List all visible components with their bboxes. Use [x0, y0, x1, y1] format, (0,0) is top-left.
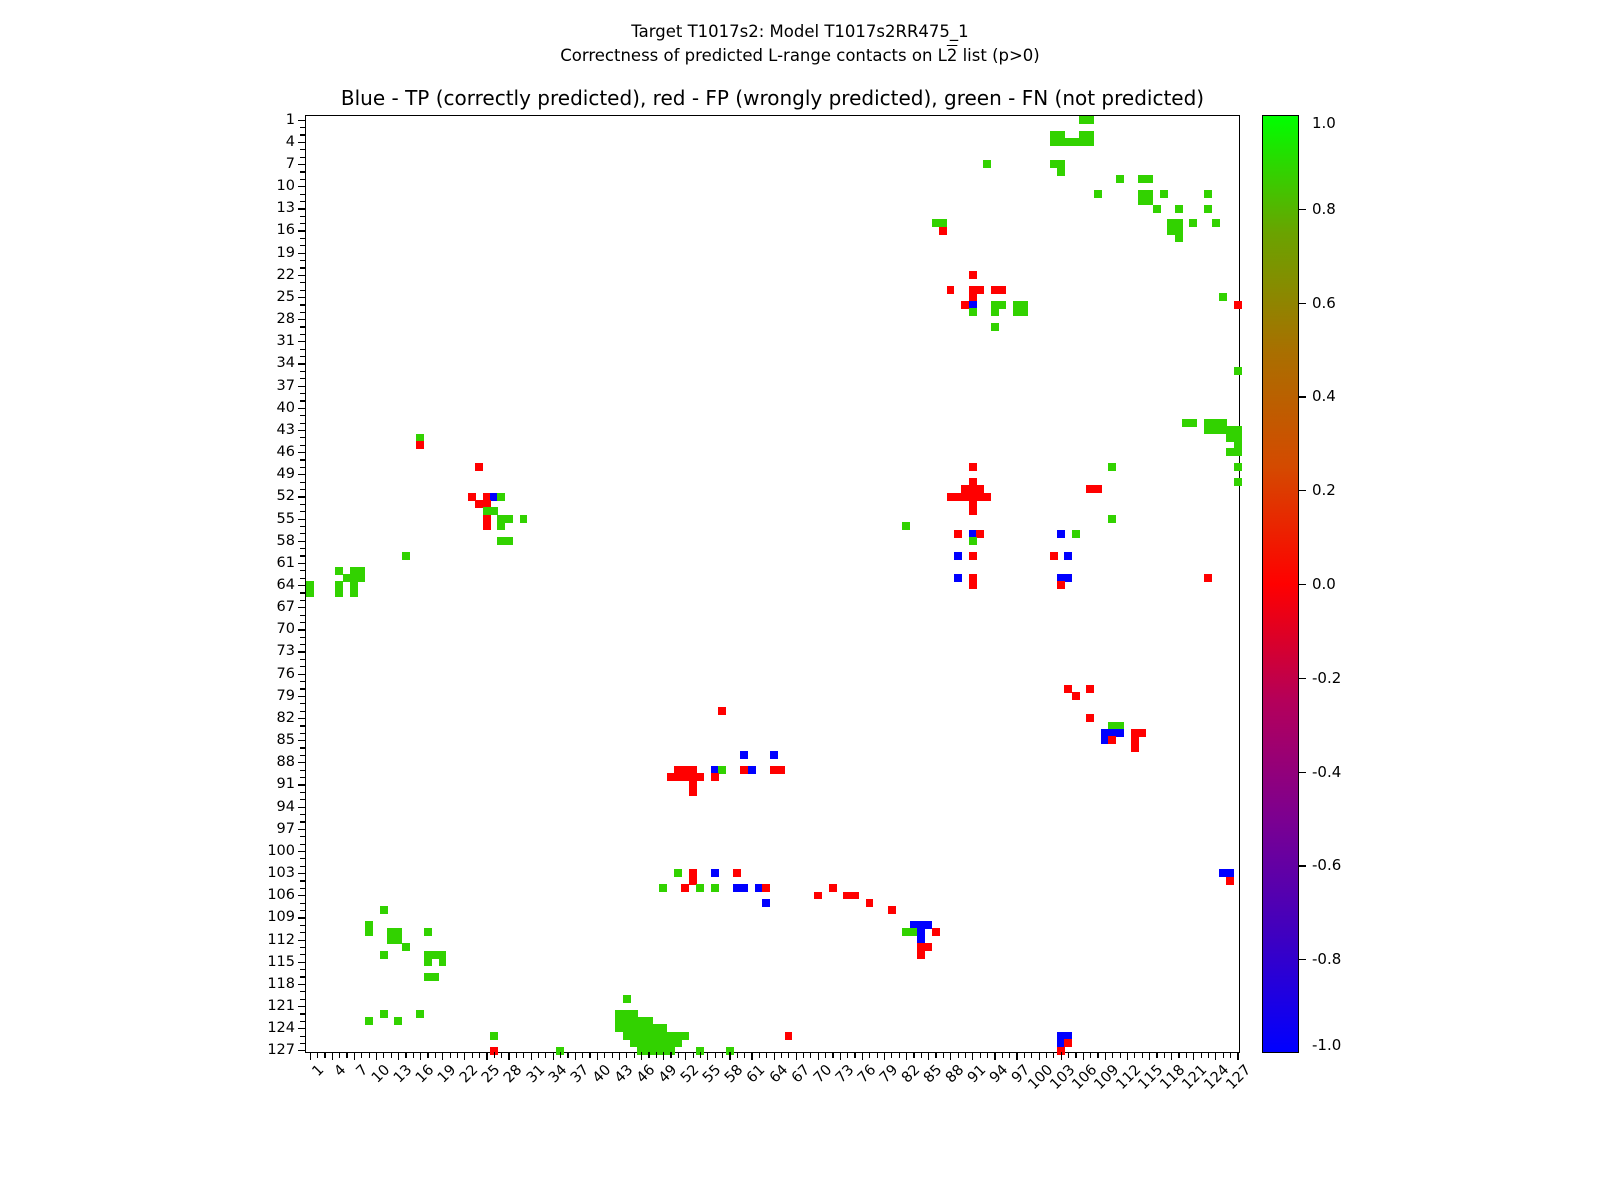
y-tick-mark [300, 223, 306, 224]
x-tick-mark [1215, 1052, 1216, 1060]
heatmap-cell-fp [1131, 744, 1139, 752]
y-tick-mark [300, 711, 306, 712]
y-tick-label: 121 [267, 998, 295, 1014]
heatmap-cell-fn [350, 589, 358, 597]
heatmap-cell-fp [983, 493, 991, 501]
y-tick-mark [300, 260, 306, 261]
x-tick-mark [1127, 1052, 1128, 1060]
colorbar-tick-label: -0.4 [1312, 763, 1341, 781]
x-tick-mark [935, 1052, 936, 1058]
y-tick-mark [300, 216, 306, 217]
y-tick-label: 22 [277, 267, 295, 283]
y-tick-mark [300, 659, 306, 660]
heatmap-cell-fp [667, 773, 675, 781]
heatmap-cell-fn [1175, 205, 1183, 213]
x-tick-mark [1083, 1052, 1084, 1060]
x-tick-mark [538, 1052, 539, 1058]
y-tick-label: 7 [286, 156, 295, 172]
y-tick-label: 49 [277, 466, 295, 482]
heatmap-cell-fn [424, 928, 432, 936]
x-tick-mark [442, 1052, 443, 1060]
y-tick-mark [298, 452, 306, 453]
x-tick-label: 7 [353, 1062, 371, 1080]
y-tick-mark [300, 511, 306, 512]
x-tick-mark [501, 1052, 502, 1058]
colorbar-tick-label: -1.0 [1312, 1036, 1341, 1054]
x-tick-mark [317, 1052, 318, 1058]
heatmap-cell-fn [1234, 478, 1242, 486]
heatmap-cell-fp [969, 552, 977, 560]
x-tick-mark [494, 1052, 495, 1058]
x-tick-mark [854, 1052, 855, 1058]
heatmap-cell-fn [358, 574, 366, 582]
heatmap-cell-fn [991, 323, 999, 331]
heatmap-cell-fn [497, 493, 505, 501]
y-tick-mark [298, 895, 306, 896]
x-tick-mark [479, 1052, 480, 1058]
x-tick-mark [361, 1052, 362, 1058]
heatmap-cell-fn [1086, 138, 1094, 146]
y-tick-mark [298, 496, 306, 497]
heatmap-cell-fn [505, 515, 513, 523]
x-tick-mark [729, 1052, 730, 1060]
x-tick-mark [803, 1052, 804, 1058]
x-tick-mark [766, 1052, 767, 1058]
y-tick-label: 31 [277, 333, 295, 349]
y-tick-mark [300, 445, 306, 446]
y-tick-mark [298, 563, 306, 564]
heatmap-cell-tp [1064, 574, 1072, 582]
x-tick-mark [332, 1052, 333, 1060]
y-tick-label: 100 [267, 843, 295, 859]
y-tick-label: 127 [267, 1042, 295, 1058]
heatmap-cell-fp [1204, 574, 1212, 582]
heatmap-cell-fn [1234, 367, 1242, 375]
y-tick-mark [300, 880, 306, 881]
y-tick-label: 94 [277, 799, 295, 815]
colorbar-tick-label: 0.6 [1312, 294, 1336, 312]
y-tick-label: 16 [277, 222, 295, 238]
x-tick-mark [1178, 1052, 1179, 1058]
y-tick-label: 61 [277, 555, 295, 571]
y-tick-label: 118 [267, 976, 295, 992]
heatmap-cell-fp [1108, 736, 1116, 744]
heatmap-cell-fp [416, 441, 424, 449]
heatmap-cell-fn [623, 995, 631, 1003]
x-tick-mark [508, 1052, 509, 1060]
x-tick-label: 70 [811, 1062, 835, 1086]
heatmap-cell-fp [969, 507, 977, 515]
colorbar-tick-mark [1299, 303, 1306, 304]
y-tick-mark [300, 644, 306, 645]
y-tick-mark [300, 910, 306, 911]
x-tick-mark [1208, 1052, 1209, 1058]
y-tick-label: 85 [277, 732, 295, 748]
y-tick-label: 76 [277, 666, 295, 682]
y-tick-mark [298, 186, 306, 187]
y-tick-mark [300, 157, 306, 158]
y-tick-label: 55 [277, 511, 295, 527]
y-tick-mark [300, 437, 306, 438]
x-tick-mark [383, 1052, 384, 1058]
x-tick-label: 61 [744, 1062, 768, 1086]
heatmap-cell-fp [939, 227, 947, 235]
heatmap-cell-fn [1057, 168, 1065, 176]
y-tick-mark [300, 888, 306, 889]
x-tick-mark [818, 1052, 819, 1060]
heatmap-cell-fn [1086, 116, 1094, 124]
heatmap-cell-fp [851, 892, 859, 900]
y-tick-mark [300, 570, 306, 571]
y-tick-mark [300, 666, 306, 667]
y-tick-mark [298, 319, 306, 320]
y-tick-mark [298, 873, 306, 874]
y-tick-mark [300, 482, 306, 483]
y-tick-mark [298, 585, 306, 586]
x-tick-label: 46 [634, 1062, 658, 1086]
heatmap-cell-fn [335, 589, 343, 597]
heatmap-cell-fn [380, 951, 388, 959]
heatmap-cell-fn [1189, 419, 1197, 427]
x-tick-label: 76 [855, 1062, 879, 1086]
heatmap-cell-fp [924, 943, 932, 951]
heatmap-cell-fn [1189, 219, 1197, 227]
heatmap-cell-fp [866, 899, 874, 907]
y-tick-mark [300, 201, 306, 202]
x-tick-mark [531, 1052, 532, 1060]
heatmap-cell-fp [1226, 877, 1234, 885]
y-tick-mark [300, 555, 306, 556]
y-tick-mark [300, 866, 306, 867]
y-tick-label: 106 [267, 887, 295, 903]
y-tick-mark [300, 171, 306, 172]
y-tick-mark [300, 792, 306, 793]
x-tick-mark [965, 1052, 966, 1058]
heatmap-cell-fp [954, 530, 962, 538]
y-tick-mark [300, 194, 306, 195]
y-tick-mark [298, 651, 306, 652]
y-tick-mark [300, 755, 306, 756]
colorbar-container: 1.00.80.60.40.20.0-0.2-0.4-0.6-0.8-1.0 [1262, 115, 1299, 1053]
x-tick-mark [663, 1052, 664, 1060]
heatmap-cell-fn [1234, 463, 1242, 471]
x-tick-label: 37 [568, 1062, 592, 1086]
y-tick-mark [300, 747, 306, 748]
heatmap-cell-fn [1094, 190, 1102, 198]
heatmap-cell-fn [1219, 293, 1227, 301]
x-tick-mark [641, 1052, 642, 1060]
y-tick-mark [300, 999, 306, 1000]
heatmap-cell-fp [1050, 552, 1058, 560]
y-tick-label: 1 [286, 112, 295, 128]
y-tick-mark [300, 149, 306, 150]
colorbar-tick-label: -0.8 [1312, 950, 1341, 968]
heatmap-cell-fp [681, 884, 689, 892]
y-tick-mark [300, 526, 306, 527]
y-tick-mark [300, 615, 306, 616]
y-tick-mark [300, 548, 306, 549]
y-tick-label: 88 [277, 754, 295, 770]
y-tick-mark [298, 829, 306, 830]
x-tick-mark [913, 1052, 914, 1058]
heatmap-cell-fn [998, 301, 1006, 309]
y-tick-mark [298, 474, 306, 475]
x-tick-mark [877, 1052, 878, 1058]
y-tick-mark [298, 940, 306, 941]
colorbar-tick-mark [1299, 678, 1306, 679]
heatmap-cell-fp [733, 869, 741, 877]
x-tick-mark [891, 1052, 892, 1058]
y-tick-mark [298, 430, 306, 431]
x-tick-label: 40 [590, 1062, 614, 1086]
y-tick-mark [300, 703, 306, 704]
heatmap-cell-fp [814, 892, 822, 900]
y-tick-mark [300, 991, 306, 992]
x-tick-mark [1193, 1052, 1194, 1060]
heatmap-cell-fn [1116, 175, 1124, 183]
y-tick-mark [300, 400, 306, 401]
y-tick-mark [298, 607, 306, 608]
heatmap-cell-fn [1153, 205, 1161, 213]
heatmap-cell-fn [497, 522, 505, 530]
heatmap-cell-fn [969, 308, 977, 316]
y-tick-mark [300, 578, 306, 579]
heatmap-cell-fp [1072, 692, 1080, 700]
y-tick-mark [300, 954, 306, 955]
y-tick-mark [300, 725, 306, 726]
y-tick-mark [298, 120, 306, 121]
y-tick-mark [298, 142, 306, 143]
x-tick-mark [634, 1052, 635, 1058]
heatmap-cell-fp [689, 788, 697, 796]
x-tick-mark [324, 1052, 325, 1058]
colorbar-tick-label: 0.2 [1312, 481, 1336, 499]
colorbar-tick-mark [1299, 865, 1306, 866]
y-tick-label: 40 [277, 400, 295, 416]
colorbar-tick-mark [1299, 772, 1306, 773]
y-tick-mark [300, 245, 306, 246]
x-tick-mark [612, 1052, 613, 1058]
x-tick-label: 49 [656, 1062, 680, 1086]
x-tick-mark [796, 1052, 797, 1060]
y-tick-label: 103 [267, 865, 295, 881]
x-tick-mark [707, 1052, 708, 1060]
x-tick-mark [1024, 1052, 1025, 1058]
x-tick-mark [376, 1052, 377, 1060]
x-tick-mark [1061, 1052, 1062, 1060]
y-tick-mark [300, 134, 306, 135]
y-tick-mark [298, 341, 306, 342]
x-tick-mark [670, 1052, 671, 1058]
heatmap-cell-fn [1204, 190, 1212, 198]
x-tick-mark [346, 1052, 347, 1058]
y-tick-mark [300, 976, 306, 977]
colorbar-gradient [1262, 115, 1299, 1053]
x-tick-mark [862, 1052, 863, 1060]
x-tick-mark [626, 1052, 627, 1058]
y-tick-mark [300, 592, 306, 593]
y-tick-mark [300, 821, 306, 822]
y-tick-mark [300, 858, 306, 859]
y-tick-mark [298, 851, 306, 852]
y-tick-mark [300, 393, 306, 394]
x-tick-mark [825, 1052, 826, 1058]
y-tick-mark [300, 467, 306, 468]
heatmap-cell-fn [1072, 530, 1080, 538]
y-tick-mark [300, 777, 306, 778]
x-tick-mark [972, 1052, 973, 1060]
y-tick-mark [300, 356, 306, 357]
x-tick-mark [906, 1052, 907, 1060]
colorbar-tick-label: -0.6 [1312, 856, 1341, 874]
x-tick-mark [715, 1052, 716, 1058]
x-tick-mark [648, 1052, 649, 1058]
heatmap-cell-fp [777, 766, 785, 774]
x-tick-mark [685, 1052, 686, 1060]
y-tick-mark [300, 371, 306, 372]
heatmap-cell-fn [969, 537, 977, 545]
x-tick-mark [1230, 1052, 1231, 1058]
x-tick-mark [472, 1052, 473, 1058]
x-tick-mark [744, 1052, 745, 1058]
y-tick-mark [300, 489, 306, 490]
heatmap-cell-fp [696, 773, 704, 781]
x-tick-mark [1090, 1052, 1091, 1058]
x-tick-mark [928, 1052, 929, 1060]
x-tick-mark [619, 1052, 620, 1060]
heatmap-cell-tp [1116, 729, 1124, 737]
y-tick-mark [300, 1036, 306, 1037]
heatmap-cell-fn [402, 552, 410, 560]
x-tick-mark [354, 1052, 355, 1060]
suptitle-line-2: Correctness of predicted L-range contact… [0, 44, 1600, 68]
x-tick-mark [523, 1052, 524, 1058]
x-tick-mark [781, 1052, 782, 1058]
y-tick-mark [298, 696, 306, 697]
x-tick-mark [589, 1052, 590, 1058]
heatmap-cell-fn [306, 589, 314, 597]
y-tick-mark [300, 459, 306, 460]
x-tick-mark [604, 1052, 605, 1058]
y-tick-mark [298, 962, 306, 963]
x-tick-mark [1237, 1052, 1238, 1060]
x-tick-mark [405, 1052, 406, 1058]
x-tick-mark [575, 1052, 576, 1060]
y-tick-mark [298, 1050, 306, 1051]
y-tick-mark [300, 334, 306, 335]
y-tick-mark [300, 533, 306, 534]
x-tick-mark [560, 1052, 561, 1058]
y-tick-mark [298, 1006, 306, 1007]
x-tick-mark [1171, 1052, 1172, 1060]
y-tick-mark [298, 164, 306, 165]
x-tick-mark [310, 1052, 311, 1060]
y-tick-mark [298, 629, 306, 630]
x-tick-mark [884, 1052, 885, 1060]
y-tick-mark [298, 917, 306, 918]
x-tick-mark [847, 1052, 848, 1058]
y-tick-mark [300, 600, 306, 601]
x-tick-label: 52 [678, 1062, 702, 1086]
colorbar-tick-label: -0.2 [1312, 669, 1341, 687]
y-tick-mark [298, 275, 306, 276]
heatmap-cell-tp [748, 766, 756, 774]
y-tick-mark [300, 799, 306, 800]
heatmap-cell-fn [711, 884, 719, 892]
heatmap-cell-fn [490, 1032, 498, 1040]
heatmap-cell-fp [976, 530, 984, 538]
heatmap-cell-fp [917, 951, 925, 959]
x-tick-mark [398, 1052, 399, 1060]
heatmap-cell-fn [520, 515, 528, 523]
colorbar-tick-label: 0.8 [1312, 200, 1336, 218]
heatmap-cell-fn [983, 160, 991, 168]
x-tick-mark [1053, 1052, 1054, 1058]
x-tick-label: 67 [789, 1062, 813, 1086]
x-tick-mark [1149, 1052, 1150, 1060]
x-tick-mark [1223, 1052, 1224, 1058]
contact-map-plot-area: 1471013161922252831343740434649525558616… [305, 115, 1240, 1053]
y-tick-mark [300, 312, 306, 313]
heatmap-cell-fp [1086, 685, 1094, 693]
x-tick-mark [810, 1052, 811, 1058]
heatmap-cell-fn [1108, 515, 1116, 523]
y-tick-label: 109 [267, 909, 295, 925]
x-tick-mark [567, 1052, 568, 1058]
y-tick-mark [298, 363, 306, 364]
x-tick-mark [751, 1052, 752, 1060]
y-tick-label: 97 [277, 821, 295, 837]
suptitle-line-1: Target T1017s2: Model T1017s2RR475_1 [0, 20, 1600, 44]
x-tick-mark [987, 1052, 988, 1058]
heatmap-cell-tp [770, 751, 778, 759]
x-tick-label: 64 [766, 1062, 790, 1086]
x-tick-mark [788, 1052, 789, 1058]
heatmap-cell-tp [740, 751, 748, 759]
x-tick-mark [700, 1052, 701, 1058]
heatmap-cell-fp [1234, 301, 1242, 309]
y-tick-label: 82 [277, 710, 295, 726]
heatmap-cell-fp [711, 773, 719, 781]
y-tick-mark [300, 836, 306, 837]
heatmap-cell-tp [1064, 552, 1072, 560]
x-tick-mark [391, 1052, 392, 1058]
y-tick-label: 79 [277, 688, 295, 704]
heatmap-cell-fn [365, 928, 373, 936]
y-tick-label: 70 [277, 621, 295, 637]
heatmap-cell-fn [1160, 190, 1168, 198]
x-tick-mark [1002, 1052, 1003, 1058]
x-tick-mark [553, 1052, 554, 1060]
y-tick-mark [300, 290, 306, 291]
y-tick-mark [298, 674, 306, 675]
x-tick-mark [597, 1052, 598, 1060]
x-tick-label: 1 [309, 1062, 327, 1080]
heatmap-cell-tp [711, 869, 719, 877]
y-tick-mark [300, 681, 306, 682]
y-tick-mark [298, 297, 306, 298]
y-tick-mark [300, 903, 306, 904]
x-tick-mark [420, 1052, 421, 1060]
suptitle-line-2-post: list (p>0) [957, 46, 1039, 65]
y-tick-mark [300, 238, 306, 239]
heatmap-cell-fp [969, 271, 977, 279]
y-tick-mark [300, 1013, 306, 1014]
x-tick-mark [921, 1052, 922, 1058]
y-tick-mark [298, 984, 306, 985]
y-tick-mark [300, 1043, 306, 1044]
heatmap-cell-tp [1057, 530, 1065, 538]
